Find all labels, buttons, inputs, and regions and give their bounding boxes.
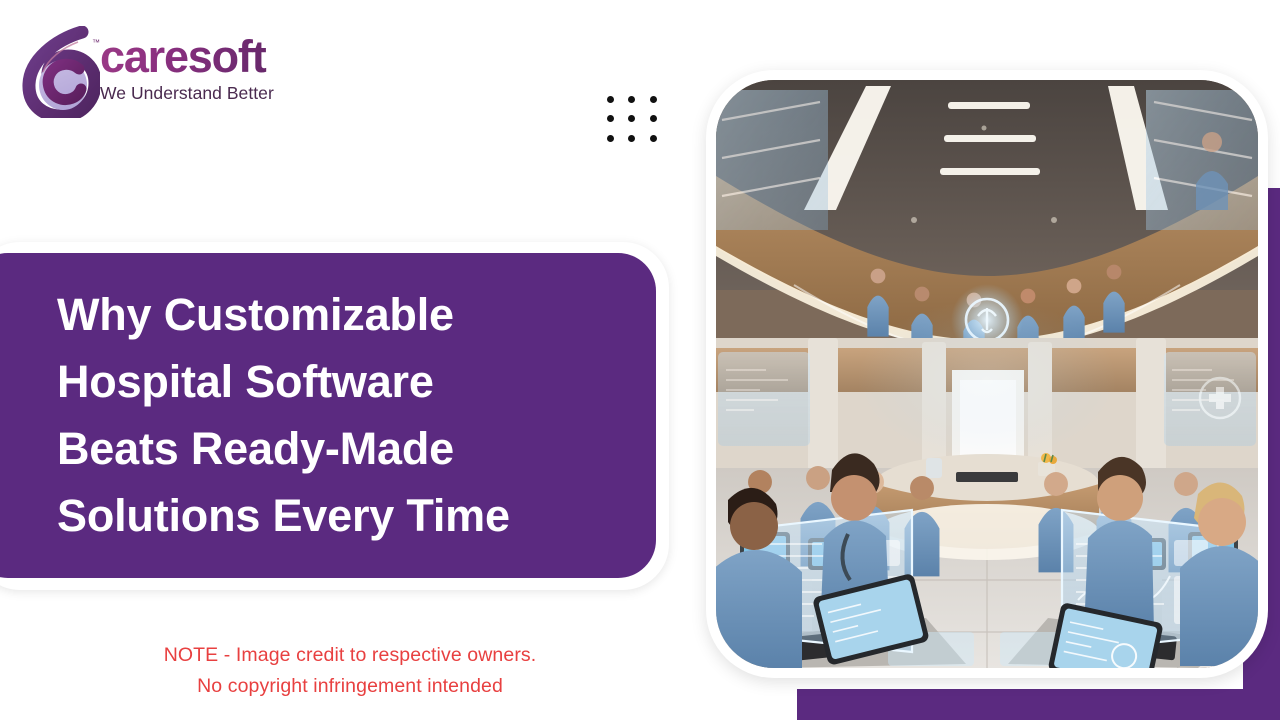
dot-grid-3x3-icon xyxy=(600,90,664,148)
dot-grid-cell xyxy=(600,129,621,148)
hospital-lobby-photo xyxy=(716,80,1258,668)
headline-line-4: Solutions Every Time xyxy=(57,482,637,549)
headline-line-3: Beats Ready-Made xyxy=(57,415,637,482)
note-line-2: No copyright infringement intended xyxy=(70,671,630,702)
headline-line-2: Hospital Software xyxy=(57,348,637,415)
dot-grid-cell xyxy=(621,90,642,109)
dot-grid-cell xyxy=(643,90,664,109)
trademark-symbol: ™ xyxy=(92,38,100,47)
brand-wordmark: caresoft xyxy=(100,34,306,80)
note-line-1: NOTE - Image credit to respective owners… xyxy=(70,640,630,671)
dot-grid-cell xyxy=(600,109,621,128)
page-title: Why Customizable Hospital Software Beats… xyxy=(57,281,637,549)
dot-grid-cell xyxy=(621,109,642,128)
image-credit-note: NOTE - Image credit to respective owners… xyxy=(70,640,630,702)
logo-text-block: caresoft We Understand Better xyxy=(100,34,306,104)
dot-grid-cell xyxy=(643,129,664,148)
dot-grid-cell xyxy=(621,129,642,148)
headline-line-1: Why Customizable xyxy=(57,281,637,348)
dot-grid-cell xyxy=(643,109,664,128)
dot-grid-cell xyxy=(600,90,621,109)
caresoft-spiral-drop-logo-icon xyxy=(22,26,100,118)
caresoft-logo[interactable]: caresoft We Understand Better ™ xyxy=(22,26,307,118)
accent-bar-bottom xyxy=(797,689,1243,720)
poster-canvas: caresoft We Understand Better ™ Why Cust… xyxy=(0,0,1280,720)
brand-tagline: We Understand Better xyxy=(100,82,306,104)
